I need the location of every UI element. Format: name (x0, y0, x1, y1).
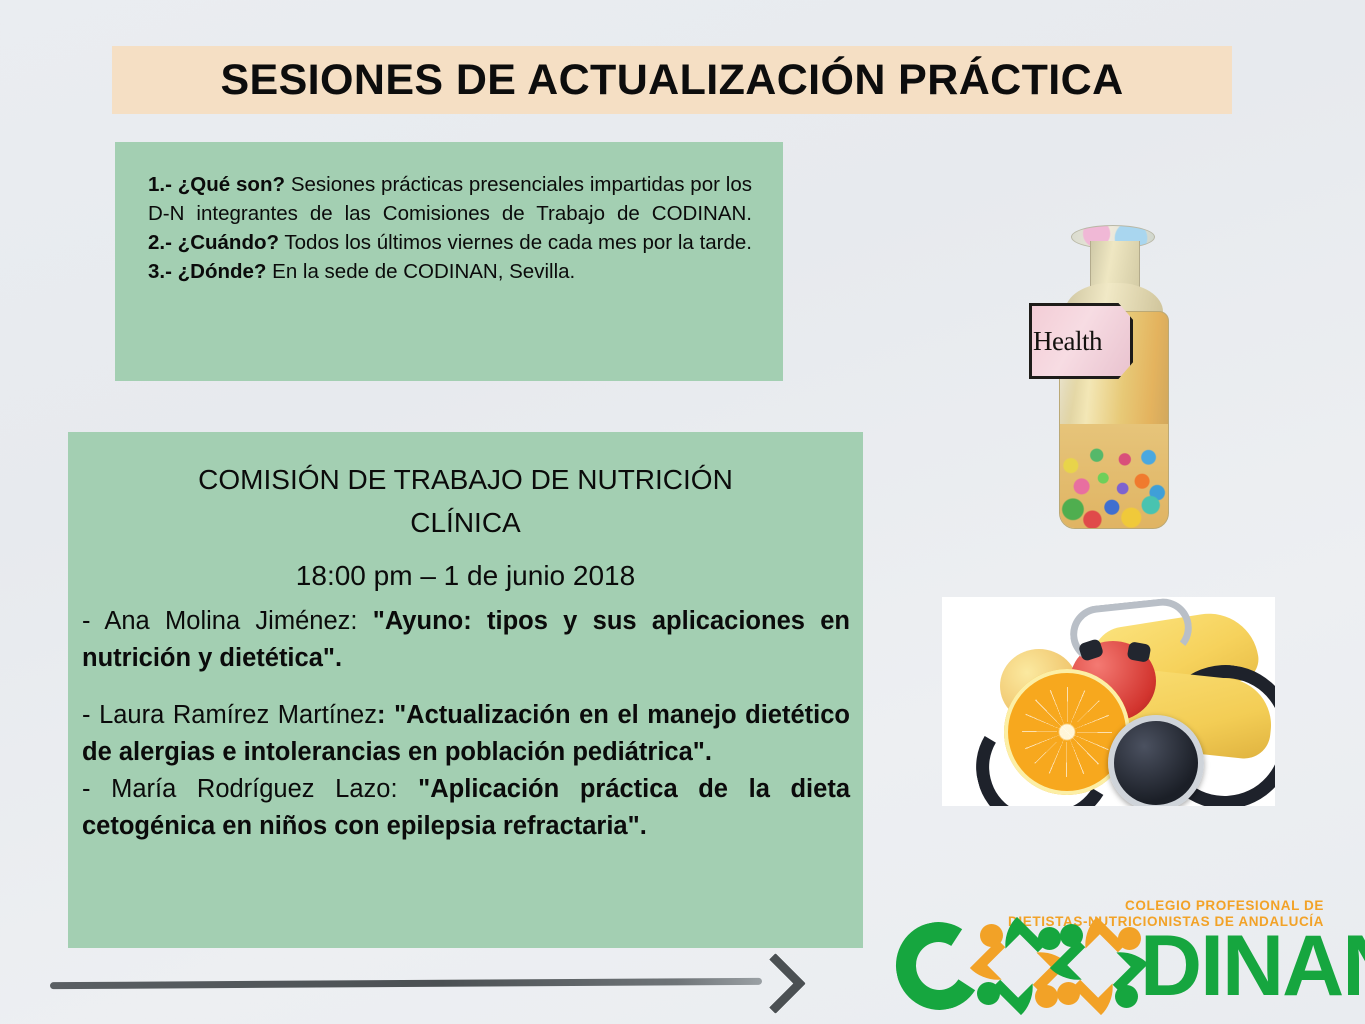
intro-info-box: 1.- ¿Qué son? Sesiones prácticas presenc… (115, 142, 783, 381)
logo-person-body (1073, 959, 1130, 1016)
talk-speaker: - Ana Molina Jiménez: (82, 607, 357, 635)
session-info-box: COMISIÓN DE TRABAJO DE NUTRICIÓN CLÍNICA… (68, 432, 863, 948)
health-bottle-photo: Health (1035, 225, 1193, 535)
intro-q3-text: En la sede de CODINAN, Sevilla. (272, 260, 575, 283)
bottle-label-text: Health (1033, 325, 1133, 357)
logo-people-circle-icon (1056, 922, 1142, 1010)
fruit-stethoscope-photo (942, 597, 1275, 806)
arrow-head-icon (750, 962, 794, 1006)
bottle-candy-fill (1060, 424, 1168, 528)
intro-question-3: 3.- ¿Dónde? En la sede de CODINAN, Sevil… (148, 257, 752, 286)
page-title: SESIONES DE ACTUALIZACIÓN PRÁCTICA (220, 59, 1123, 102)
logo-person-icon (1055, 923, 1143, 1009)
arrow-divider (50, 958, 820, 1010)
intro-question-1: 1.- ¿Qué son? Sesiones prácticas presenc… (148, 170, 752, 228)
session-heading: COMISIÓN DE TRABAJO DE NUTRICIÓN CLÍNICA (68, 458, 863, 545)
stethoscope-chestpiece (1108, 715, 1204, 806)
intro-question-2: 2.- ¿Cuándo? Todos los últimos viernes d… (148, 228, 752, 257)
title-banner: SESIONES DE ACTUALIZACIÓN PRÁCTICA (112, 46, 1232, 114)
intro-q1-label: 1.- ¿Qué son? (148, 173, 285, 196)
intro-q3-label: 3.- ¿Dónde? (148, 260, 266, 283)
intro-q2-text: Todos los últimos viernes de cada mes po… (284, 231, 752, 254)
intro-q2-label: 2.- ¿Cuándo? (148, 231, 279, 254)
talk-speaker: - Laura Ramírez Martínez (82, 701, 377, 729)
talks-list: - Ana Molina Jiménez: "Ayuno: tipos y su… (82, 603, 850, 845)
logo-tagline-line-1: COLEGIO PROFESIONAL DE (1008, 898, 1324, 914)
logo-person-body (993, 959, 1050, 1016)
codinan-logo: COLEGIO PROFESIONAL DE DIETISTAS-NUTRICI… (896, 898, 1326, 1016)
stethoscope-eartip (1127, 641, 1152, 663)
arrow-line (50, 978, 762, 989)
logo-wordmark: DINAN (896, 920, 1326, 1012)
slide-root: SESIONES DE ACTUALIZACIÓN PRÁCTICA 1.- ¿… (0, 0, 1365, 1024)
logo-person-icon (975, 923, 1063, 1009)
talk-item: - Ana Molina Jiménez: "Ayuno: tipos y su… (82, 603, 850, 677)
session-heading-line-2: CLÍNICA (68, 501, 863, 544)
session-datetime: 18:00 pm – 1 de junio 2018 (68, 560, 863, 592)
talk-speaker-colon: : (377, 701, 386, 729)
logo-people-circle-icon (976, 922, 1062, 1010)
talk-item: - María Rodríguez Lazo: "Aplicación prác… (82, 771, 850, 845)
intro-text-block: 1.- ¿Qué son? Sesiones prácticas presenc… (148, 170, 752, 286)
talk-item: - Laura Ramírez Martínez: "Actualización… (82, 697, 850, 771)
session-heading-line-1: COMISIÓN DE TRABAJO DE NUTRICIÓN (68, 458, 863, 501)
talk-speaker: - María Rodríguez Lazo: (82, 775, 398, 803)
logo-wordmark-text: DINAN (1140, 932, 1365, 1001)
